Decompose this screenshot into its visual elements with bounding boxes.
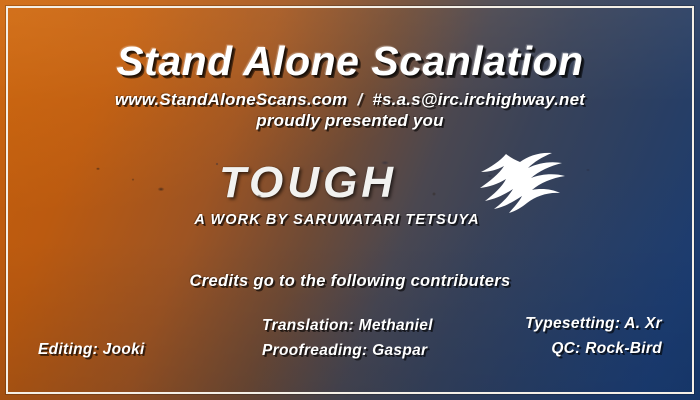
credits-right-column: Typesetting: A. Xr QC: Rock-Bird (525, 315, 662, 365)
series-wordmark: TOUGH (0, 158, 700, 208)
credits-heading: Credits go to the following contributers (0, 272, 700, 291)
separator: / (347, 90, 372, 109)
page-content: Stand Alone Scanlation www.StandAloneSca… (0, 0, 700, 400)
presented-by-line: proudly presented you (0, 111, 700, 131)
page-title: Stand Alone Scanlation (0, 38, 700, 85)
credit-qc: QC: Rock-Bird (525, 340, 662, 358)
irc-channel[interactable]: #s.a.s@irc.irchighway.net (372, 90, 585, 109)
contact-line: www.StandAloneScans.com/#s.a.s@irc.irchi… (0, 90, 700, 110)
credit-editing: Editing: Jooki (38, 341, 145, 359)
series-logo-block: TOUGH A WORK BY SARUWATARI TETSUYA (0, 152, 700, 232)
author-credit: A WORK BY SARUWATARI TETSUYA (0, 212, 700, 228)
credits-middle-column: Translation: Methaniel Proofreading: Gas… (262, 317, 433, 367)
website-link[interactable]: www.StandAloneScans.com (115, 90, 348, 109)
credit-translation: Translation: Methaniel (262, 317, 433, 335)
credit-typesetting: Typesetting: A. Xr (525, 315, 662, 333)
credit-proofreading: Proofreading: Gaspar (262, 342, 433, 360)
series-title-text: TOUGH (219, 158, 397, 207)
credits-page: Stand Alone Scanlation www.StandAloneSca… (0, 0, 700, 400)
